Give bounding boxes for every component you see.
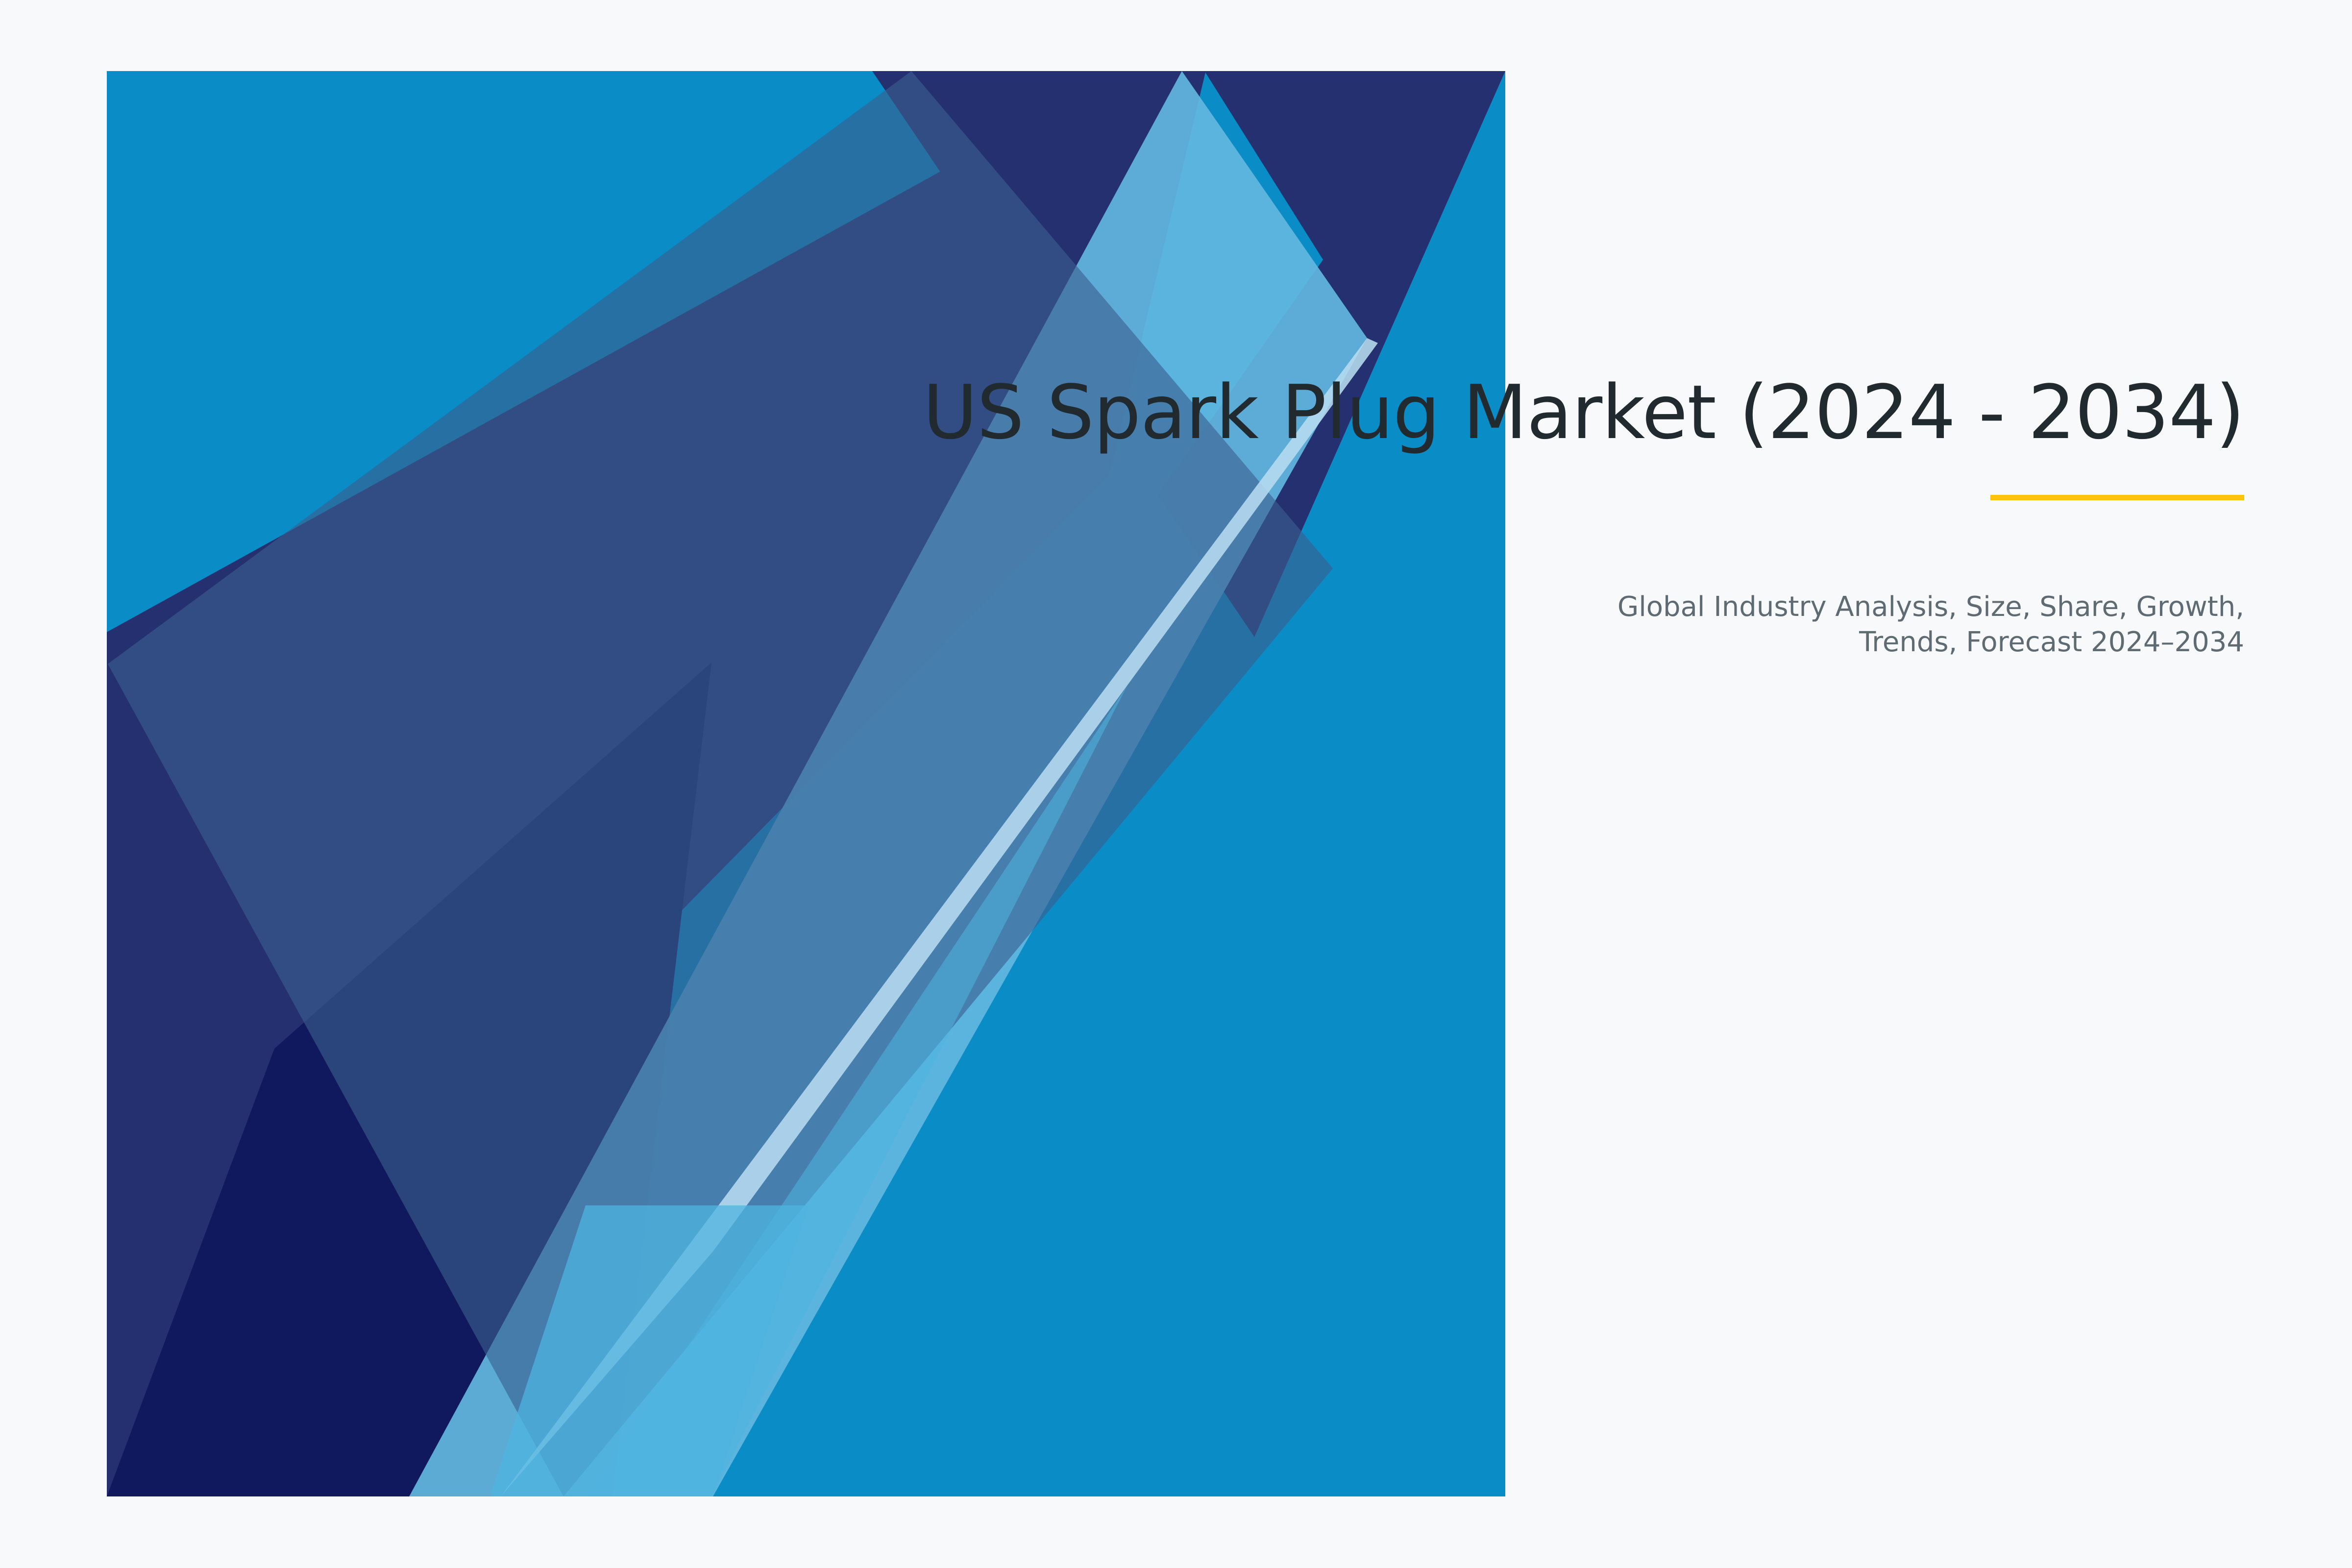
page-subtitle: Global Industry Analysis, Size, Share, G…: [1607, 589, 2244, 660]
accent-rule-container: [784, 495, 2244, 500]
page-title: US Spark Plug Market (2024 - 2034): [784, 372, 2244, 453]
accent-rule: [1990, 495, 2244, 500]
cover-artwork: [0, 0, 2352, 1568]
cover-page: US Spark Plug Market (2024 - 2034) Globa…: [0, 0, 2352, 1568]
cover-text-block: US Spark Plug Market (2024 - 2034) Globa…: [784, 372, 2244, 660]
